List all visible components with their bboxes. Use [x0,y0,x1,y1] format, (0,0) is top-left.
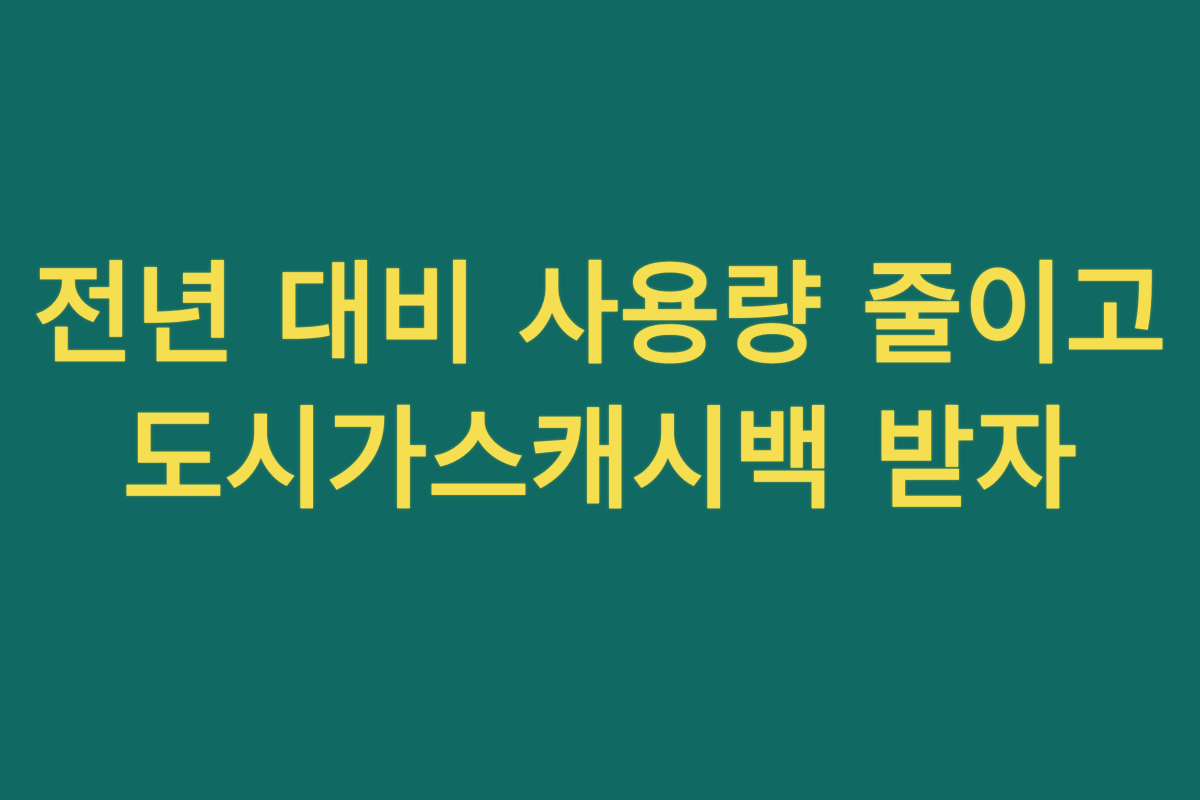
headline-line-1: 전년 대비 사용량 줄이고 [33,243,1167,388]
headline-line-2: 도시가스캐시백 받자 [123,388,1078,533]
headline-block: 전년 대비 사용량 줄이고 도시가스캐시백 받자 [0,243,1200,533]
promo-banner: 전년 대비 사용량 줄이고 도시가스캐시백 받자 [0,0,1200,800]
